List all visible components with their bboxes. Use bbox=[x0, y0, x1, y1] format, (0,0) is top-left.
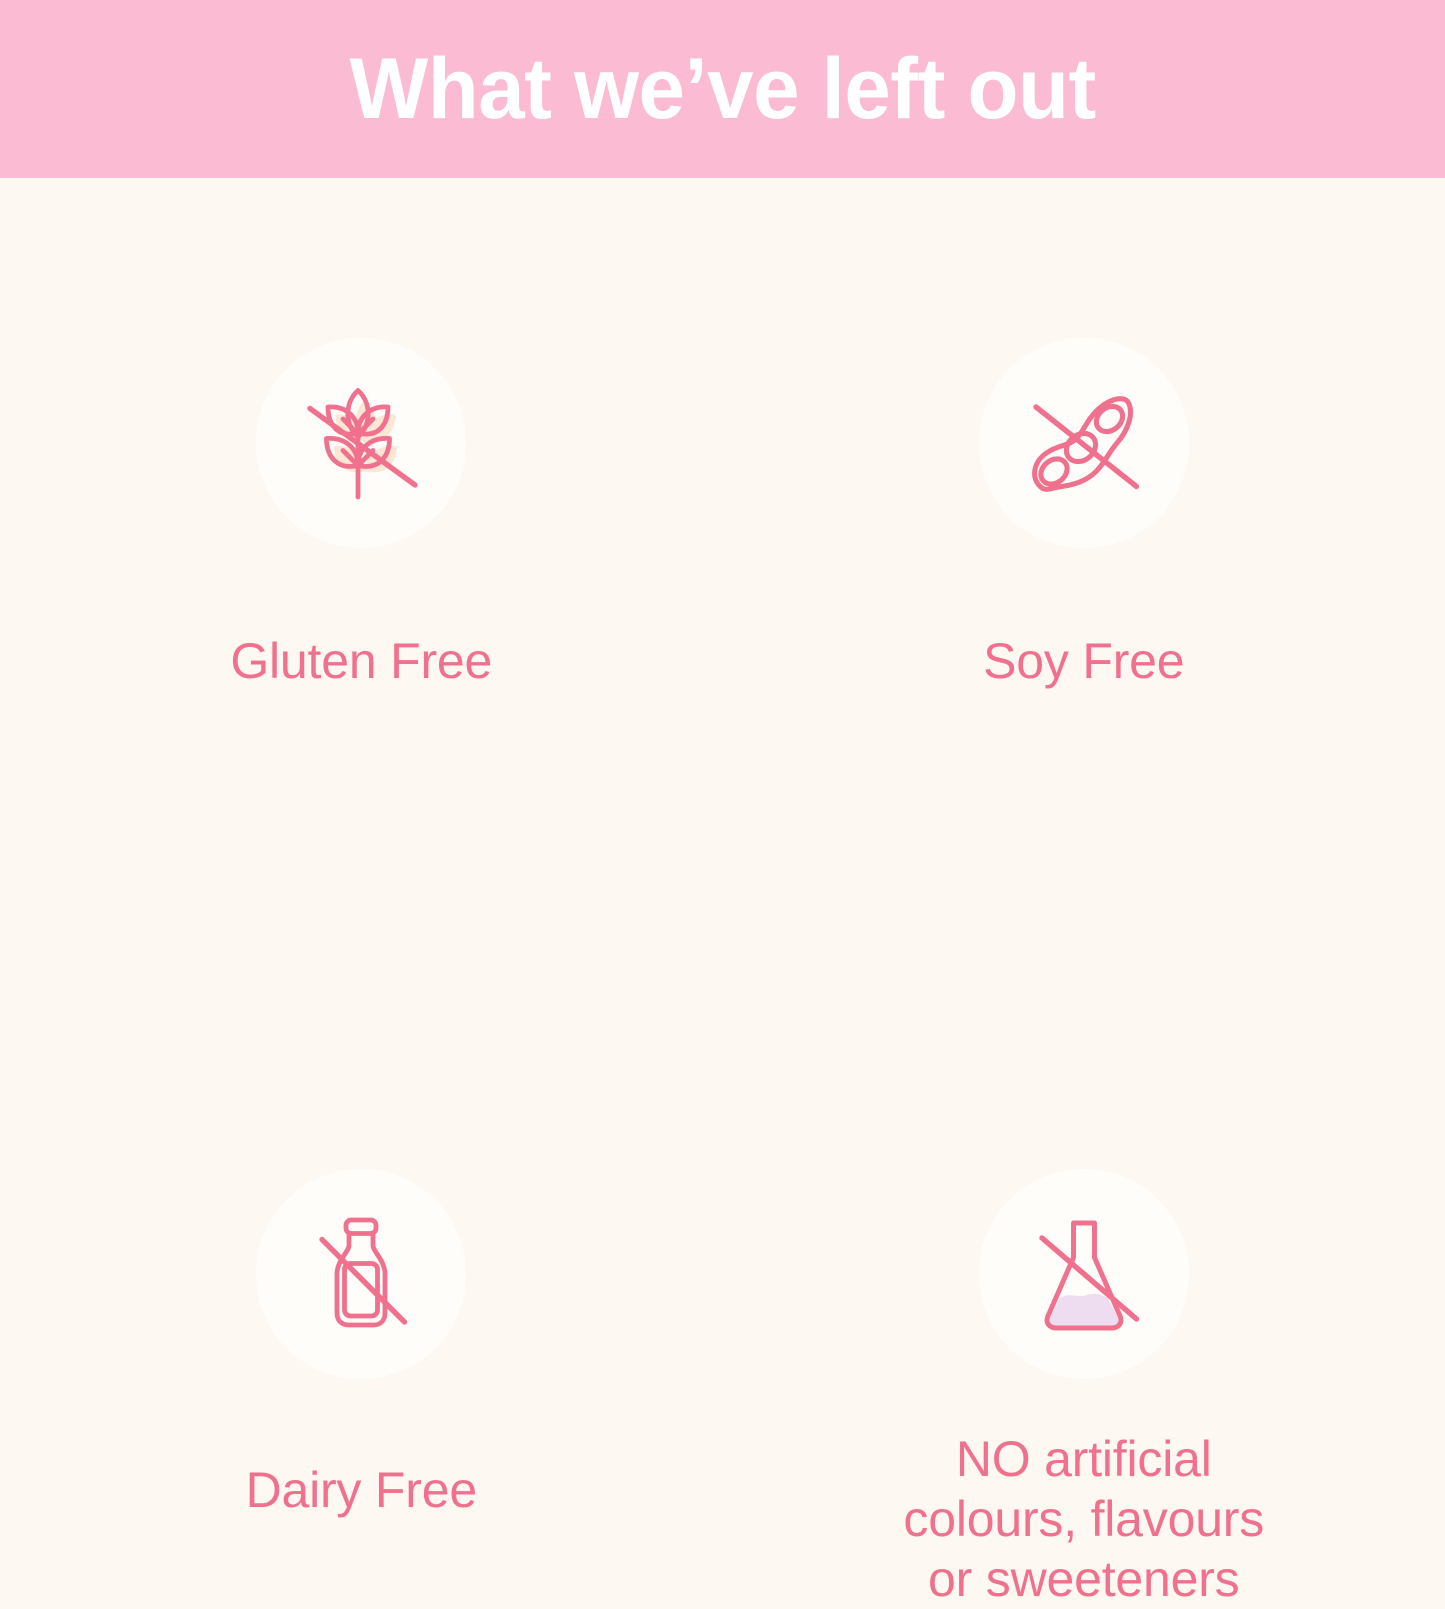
claims-grid: Gluten Free Soy Free bbox=[0, 178, 1445, 1445]
no-wheat-icon bbox=[286, 368, 436, 518]
no-milk-bottle-icon bbox=[286, 1199, 436, 1349]
flask-liquid bbox=[1050, 1294, 1118, 1327]
icon-badge-dairy-free bbox=[256, 1169, 466, 1379]
icon-badge-gluten-free bbox=[256, 338, 466, 548]
claim-item-soy-free: Soy Free bbox=[723, 178, 1445, 691]
no-soy-icon bbox=[1009, 368, 1159, 518]
claim-label-no-artificial: NO artificial colours, flavours or sweet… bbox=[903, 1429, 1264, 1609]
claim-label-gluten-free: Gluten Free bbox=[230, 632, 492, 691]
claim-item-gluten-free: Gluten Free bbox=[0, 178, 723, 691]
claim-label-soy-free: Soy Free bbox=[983, 632, 1184, 691]
claim-item-dairy-free: Dairy Free bbox=[0, 691, 723, 1609]
strikethrough-line bbox=[322, 1240, 405, 1323]
no-flask-icon bbox=[1009, 1199, 1159, 1349]
icon-badge-no-artificial bbox=[979, 1169, 1189, 1379]
page-title: What we’ve left out bbox=[349, 46, 1095, 132]
claim-label-dairy-free: Dairy Free bbox=[246, 1461, 477, 1520]
infographic-page: What we’ve left out bbox=[0, 0, 1445, 1445]
claim-item-no-artificial: NO artificial colours, flavours or sweet… bbox=[723, 691, 1445, 1609]
icon-badge-soy-free bbox=[979, 338, 1189, 548]
header-banner: What we’ve left out bbox=[0, 0, 1445, 178]
